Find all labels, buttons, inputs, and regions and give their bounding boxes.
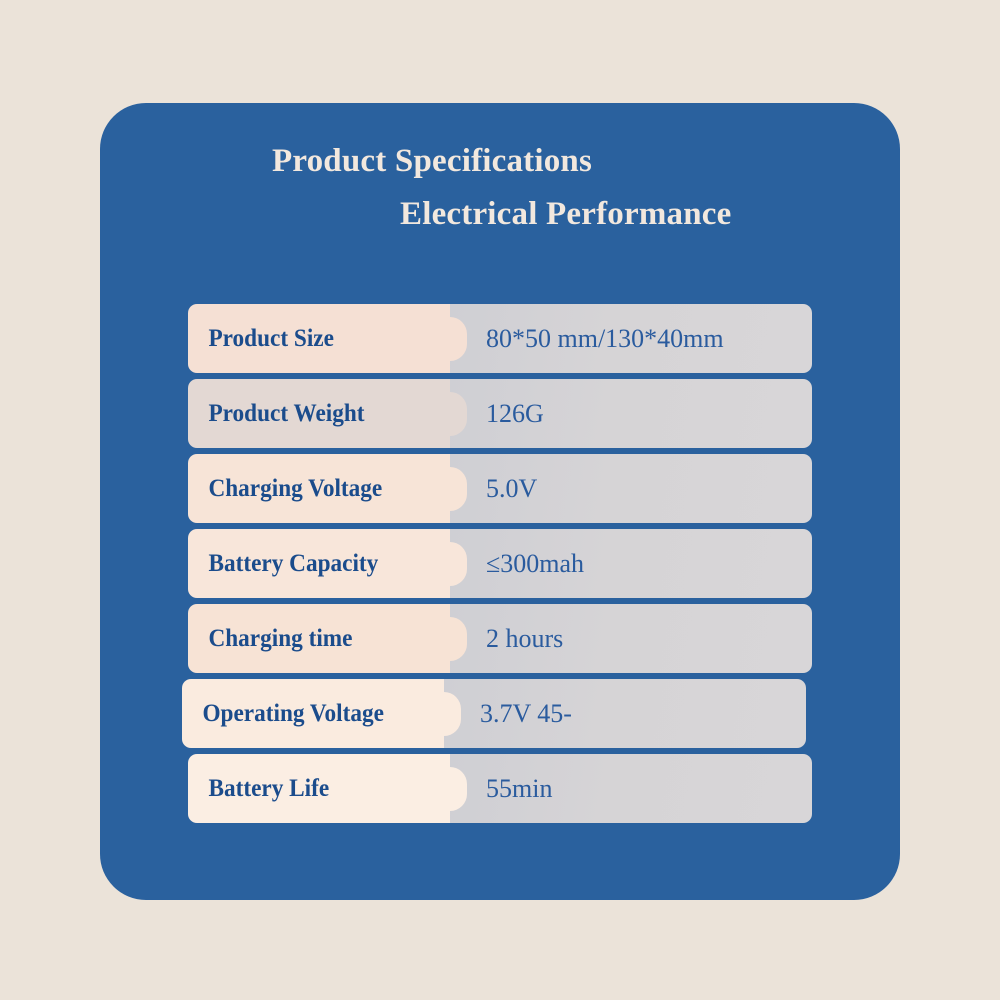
spec-value-cell: 2 hours xyxy=(450,604,812,673)
table-row: 5.0VCharging Voltage xyxy=(188,454,812,523)
spec-label-text: Operating Voltage xyxy=(182,700,384,728)
spec-label-text: Battery Life xyxy=(188,775,329,803)
spec-label-text: Charging time xyxy=(188,625,352,653)
spec-label-text: Charging Voltage xyxy=(188,475,382,503)
spec-value-text: 80*50 mm/130*40mm xyxy=(450,324,724,354)
spec-label-cell: Product Weight xyxy=(188,379,450,448)
spec-value-text: 3.7V 45- xyxy=(444,699,572,729)
spec-label-cell: Charging Voltage xyxy=(188,454,450,523)
spec-value-cell: 126G xyxy=(450,379,812,448)
spec-label-cell: Operating Voltage xyxy=(182,679,444,748)
spec-value-cell: 3.7V 45- xyxy=(444,679,806,748)
spec-label-text: Product Size xyxy=(188,325,334,353)
spec-label-cell: Battery Capacity xyxy=(188,529,450,598)
spec-label-cell: Battery Life xyxy=(188,754,450,823)
table-row: ≤300mahBattery Capacity xyxy=(188,529,812,598)
spec-value-text: ≤300mah xyxy=(450,549,584,579)
spec-label-text: Battery Capacity xyxy=(188,550,378,578)
spec-label-cell: Product Size xyxy=(188,304,450,373)
spec-label-cell: Charging time xyxy=(188,604,450,673)
spec-value-cell: 80*50 mm/130*40mm xyxy=(450,304,812,373)
page-subtitle: Electrical Performance xyxy=(400,196,731,233)
table-row: 3.7V 45-Operating Voltage xyxy=(182,679,806,748)
table-row: 126GProduct Weight xyxy=(188,379,812,448)
spec-value-cell: 55min xyxy=(450,754,812,823)
table-row: 2 hoursCharging time xyxy=(188,604,812,673)
spec-label-text: Product Weight xyxy=(188,400,365,428)
spec-value-cell: 5.0V xyxy=(450,454,812,523)
spec-value-cell: ≤300mah xyxy=(450,529,812,598)
product-spec-card: Product Specifications Electrical Perfor… xyxy=(100,103,900,900)
table-row: 80*50 mm/130*40mmProduct Size xyxy=(188,304,812,373)
page-title: Product Specifications xyxy=(272,143,592,180)
table-row: 55minBattery Life xyxy=(188,754,812,823)
